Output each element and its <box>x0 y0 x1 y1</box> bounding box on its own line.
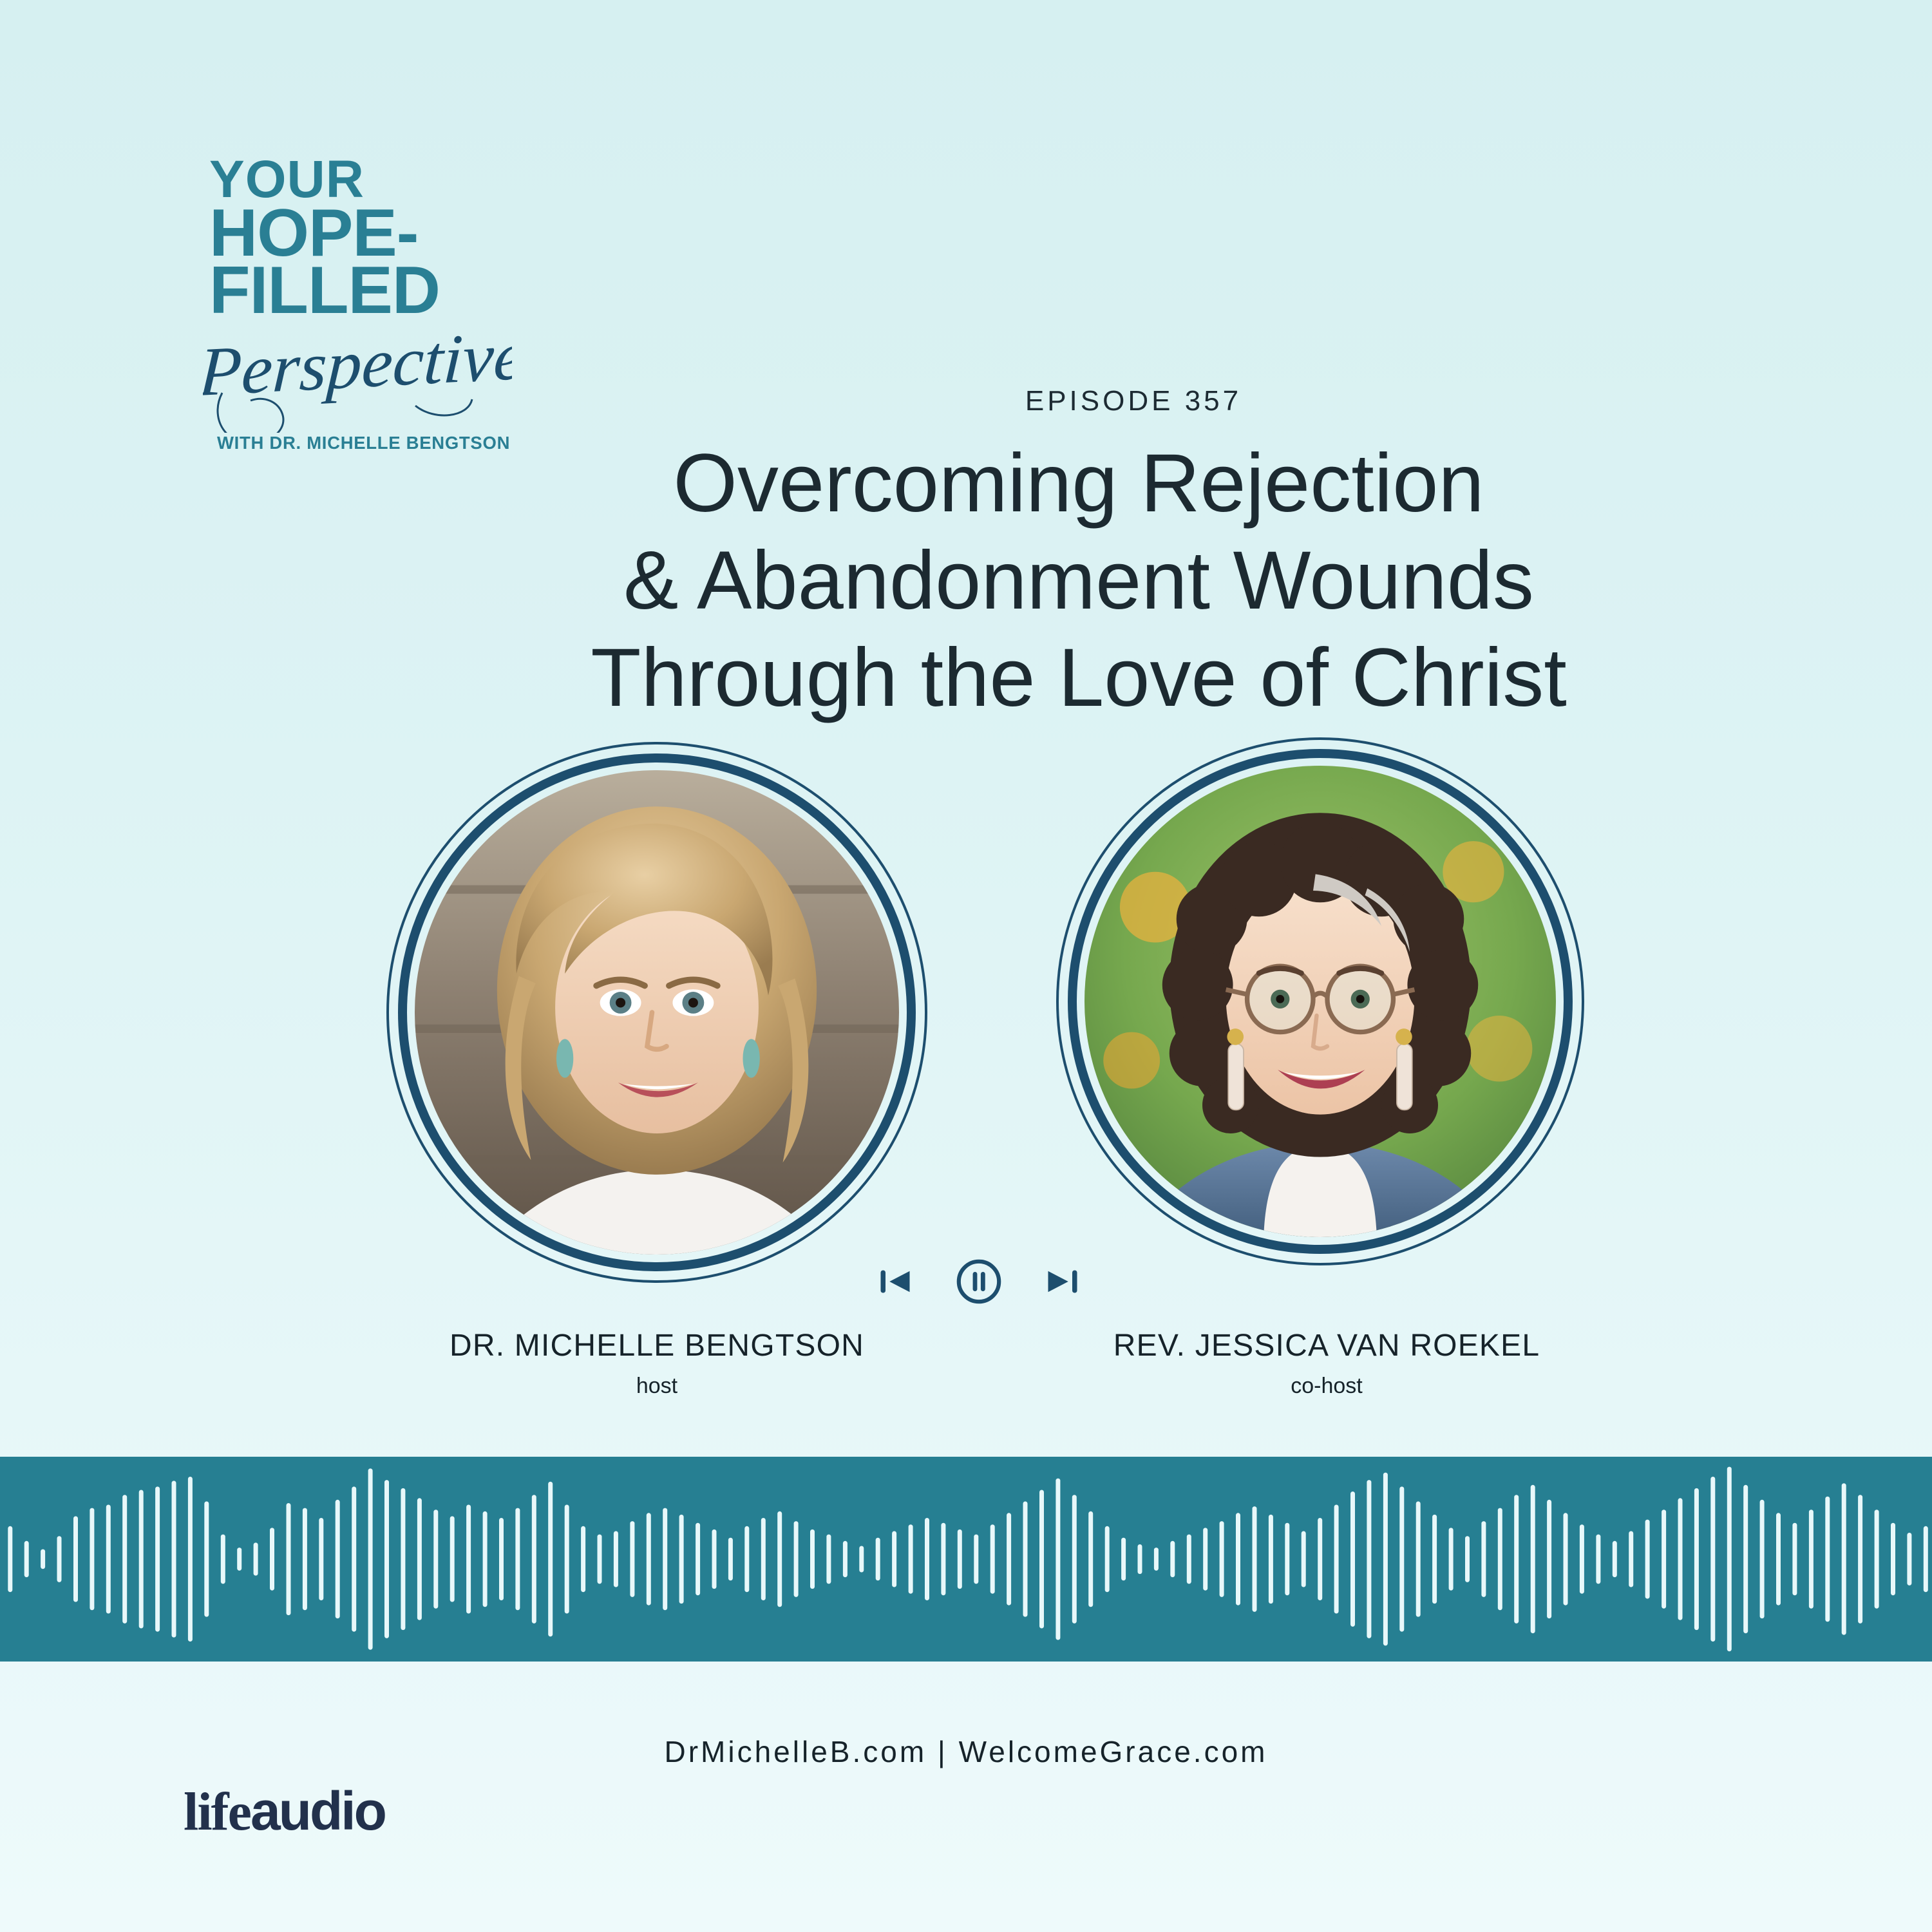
audio-waveform-band <box>0 1457 1932 1662</box>
episode-title-line-2: & Abandonment Wounds <box>386 532 1771 629</box>
pause-icon[interactable] <box>954 1256 1004 1307</box>
host-role: host <box>399 1374 914 1399</box>
lifeaudio-logo[interactable]: lifeaudio <box>184 1784 385 1839</box>
next-track-icon[interactable] <box>1043 1262 1082 1301</box>
host-photo-frame-jessica-van-roekel <box>1056 737 1584 1265</box>
host-photo-frame-michelle-bengtson <box>386 742 927 1283</box>
show-script-word: Perspective <box>203 323 512 433</box>
show-title-line-3: FILLED <box>209 262 518 319</box>
audio-player-controls[interactable] <box>876 1243 1082 1320</box>
host-name: DR. MICHELLE BENGTSON <box>399 1328 914 1363</box>
episode-title-line-1: Overcoming Rejection <box>386 435 1771 532</box>
episode-title: Overcoming Rejection & Abandonment Wound… <box>386 435 1771 726</box>
lifeaudio-logo-life: life <box>184 1782 251 1842</box>
host-caption-jessica-van-roekel: REV. JESSICA VAN ROEKEL co-host <box>1069 1328 1584 1399</box>
footer-website-links[interactable]: DrMichelleB.com | WelcomeGrace.com <box>322 1734 1610 1769</box>
host-portrait-michelle-bengtson <box>415 770 899 1255</box>
waveform-graphic <box>0 1457 1932 1662</box>
previous-track-icon[interactable] <box>876 1262 914 1301</box>
svg-text:Perspective: Perspective <box>203 323 512 411</box>
host-name: REV. JESSICA VAN ROEKEL <box>1069 1328 1584 1363</box>
host-caption-michelle-bengtson: DR. MICHELLE BENGTSON host <box>399 1328 914 1399</box>
host-portrait-jessica-van-roekel <box>1084 766 1556 1237</box>
host-role: co-host <box>1069 1374 1584 1399</box>
lifeaudio-logo-audio: audio <box>251 1781 385 1841</box>
episode-number: EPISODE 357 <box>528 385 1739 417</box>
episode-title-line-3: Through the Love of Christ <box>386 629 1771 726</box>
podcast-cover-canvas: YOUR HOPE- FILLED Perspective WITH DR. M… <box>0 0 1932 1932</box>
show-logo: YOUR HOPE- FILLED Perspective WITH DR. M… <box>209 155 518 320</box>
